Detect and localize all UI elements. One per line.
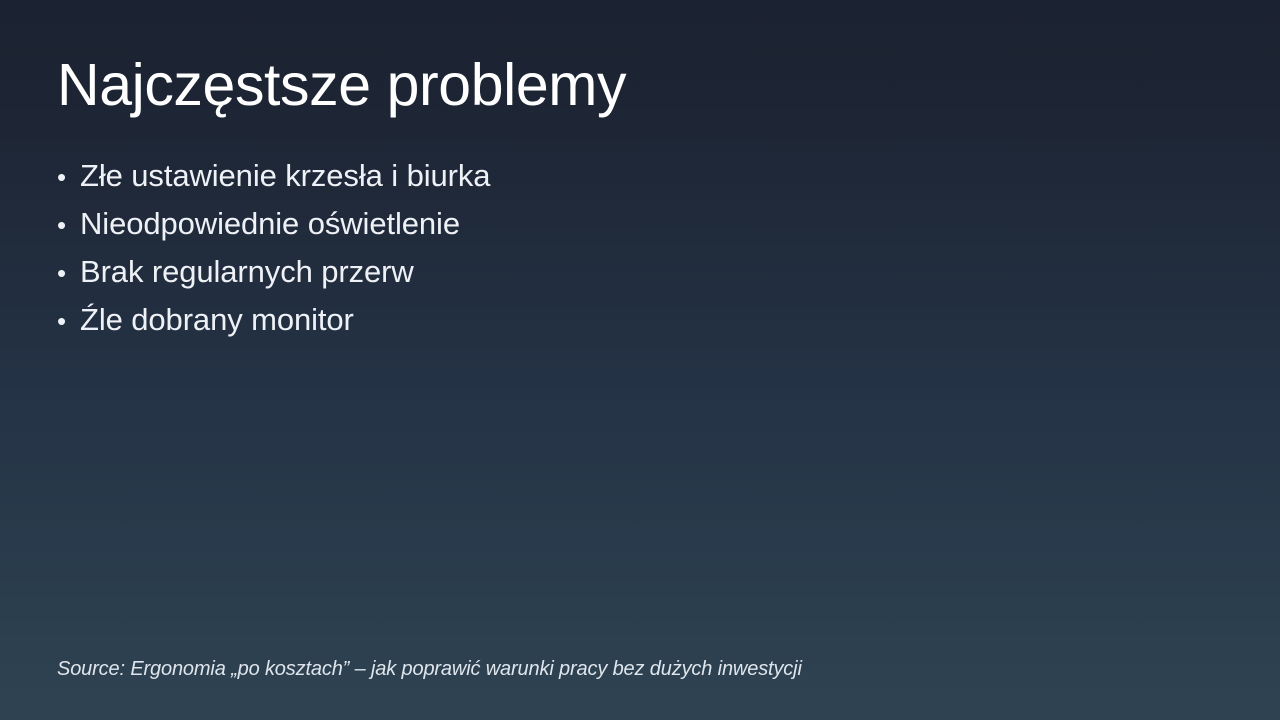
list-item-label: Nieodpowiednie oświetlenie: [80, 200, 460, 248]
list-item-label: Złe ustawienie krzesła i biurka: [80, 152, 490, 200]
list-item-label: Źle dobrany monitor: [80, 296, 354, 344]
bullet-dot-icon: •: [57, 201, 80, 249]
bullet-dot-icon: •: [57, 153, 80, 201]
list-item-label: Brak regularnych przerw: [80, 248, 414, 296]
source-attribution: Source: Ergonomia „po kosztach” – jak po…: [57, 655, 802, 683]
list-item: • Źle dobrany monitor: [57, 296, 1177, 344]
bullet-list: • Złe ustawienie krzesła i biurka • Nieo…: [57, 152, 1177, 344]
bullet-dot-icon: •: [57, 297, 80, 345]
source-title: Ergonomia „po kosztach” – jak poprawić w…: [130, 658, 801, 680]
list-item: • Brak regularnych przerw: [57, 248, 1177, 296]
source-label: Source:: [57, 658, 125, 680]
slide-canvas: Najczęstsze problemy • Złe ustawienie kr…: [0, 0, 1280, 720]
list-item: • Nieodpowiednie oświetlenie: [57, 200, 1177, 248]
bullet-dot-icon: •: [57, 249, 80, 297]
page-title: Najczęstsze problemy: [57, 52, 626, 118]
list-item: • Złe ustawienie krzesła i biurka: [57, 152, 1177, 200]
